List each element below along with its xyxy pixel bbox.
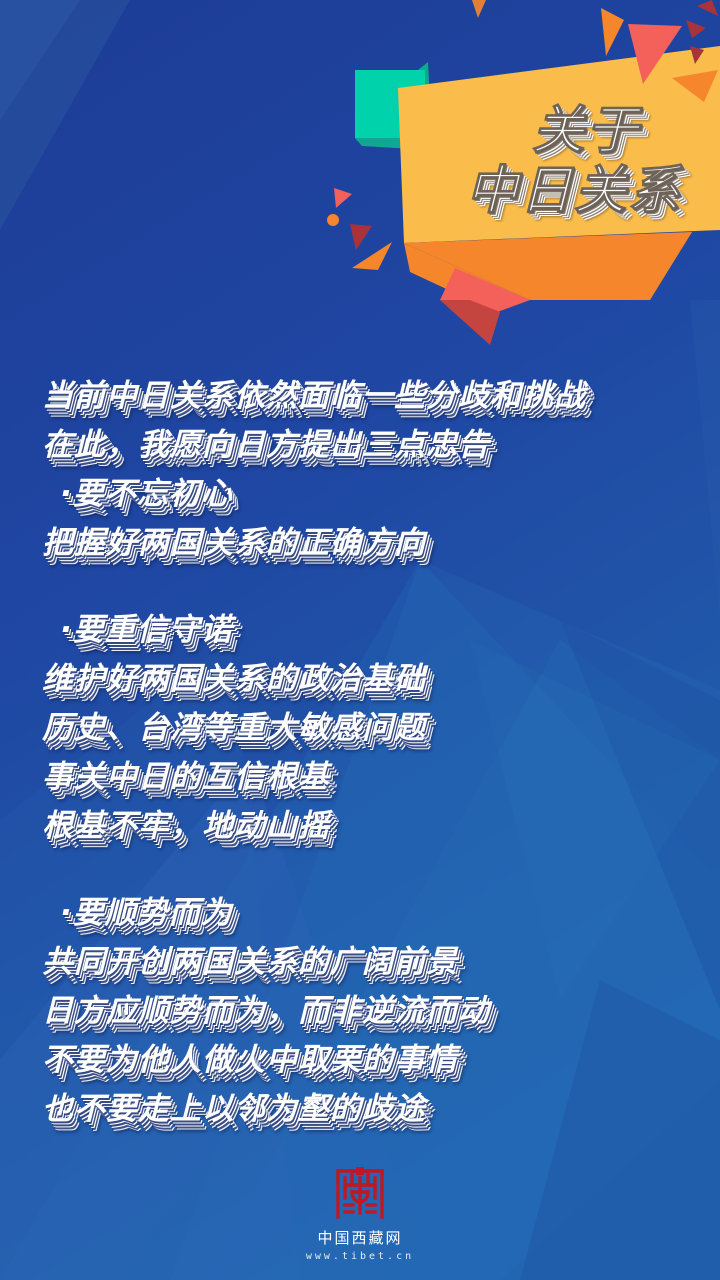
copy-line: 维护好两国关系的政治基础 bbox=[42, 655, 692, 704]
copy-line: 事关中日的互信根基 bbox=[42, 753, 692, 802]
footer-branding: 中国西藏网 www.tibet.cn bbox=[0, 1165, 720, 1262]
poster-root: 关于 中日关系 当前中日关系依然面临一些分歧和挑战 在此，我愿向日方提出三点忠告… bbox=[0, 0, 720, 1280]
stanza-advice-2: ·要重信守诺 维护好两国关系的政治基础 历史、台湾等重大敏感问题 事关中日的互信… bbox=[42, 606, 692, 851]
tibet-seal-logo-icon bbox=[329, 1165, 391, 1221]
copy-line: 共同开创两国关系的广阔前景 bbox=[42, 938, 692, 987]
confetti-darkred-4 bbox=[350, 224, 372, 250]
copy-line-bullet: ·要不忘初心 bbox=[42, 470, 692, 519]
copy-line: 日方应顺势而为，而非逆流而动 bbox=[42, 987, 692, 1036]
copy-line: 根基不牢，地动山摇 bbox=[42, 802, 692, 851]
site-url: www.tibet.cn bbox=[306, 1251, 414, 1262]
stanza-intro: 当前中日关系依然面临一些分歧和挑战 在此，我愿向日方提出三点忠告 ·要不忘初心 … bbox=[42, 372, 692, 568]
hero-shapes bbox=[0, 0, 720, 345]
confetti-darkred-3 bbox=[697, 0, 718, 16]
confetti-orange-1 bbox=[601, 8, 624, 56]
site-name: 中国西藏网 bbox=[317, 1227, 402, 1248]
copy-line: 把握好两国关系的正确方向 bbox=[42, 519, 692, 568]
confetti-orange-4 bbox=[472, 0, 486, 18]
copy-line: 在此，我愿向日方提出三点忠告 bbox=[42, 421, 692, 470]
stanza-advice-3: ·要顺势而为 共同开创两国关系的广阔前景 日方应顺势而为，而非逆流而动 不要为他… bbox=[42, 889, 692, 1134]
poster-body-copy: 当前中日关系依然面临一些分歧和挑战 在此，我愿向日方提出三点忠告 ·要不忘初心 … bbox=[42, 372, 692, 1134]
hero-banner: 关于 中日关系 bbox=[0, 0, 720, 340]
confetti-dot bbox=[327, 214, 339, 226]
yellow-banner-shape bbox=[398, 46, 720, 243]
copy-line-bullet: ·要重信守诺 bbox=[42, 606, 692, 655]
confetti-darkred-1 bbox=[686, 20, 706, 38]
confetti-coral-2 bbox=[334, 188, 352, 208]
copy-line: 当前中日关系依然面临一些分歧和挑战 bbox=[42, 372, 692, 421]
copy-line: 不要为他人做火中取栗的事情 bbox=[42, 1036, 692, 1085]
copy-line: 也不要走上以邻为壑的歧途 bbox=[42, 1085, 692, 1134]
copy-line-bullet: ·要顺势而为 bbox=[42, 889, 692, 938]
copy-line: 历史、台湾等重大敏感问题 bbox=[42, 704, 692, 753]
